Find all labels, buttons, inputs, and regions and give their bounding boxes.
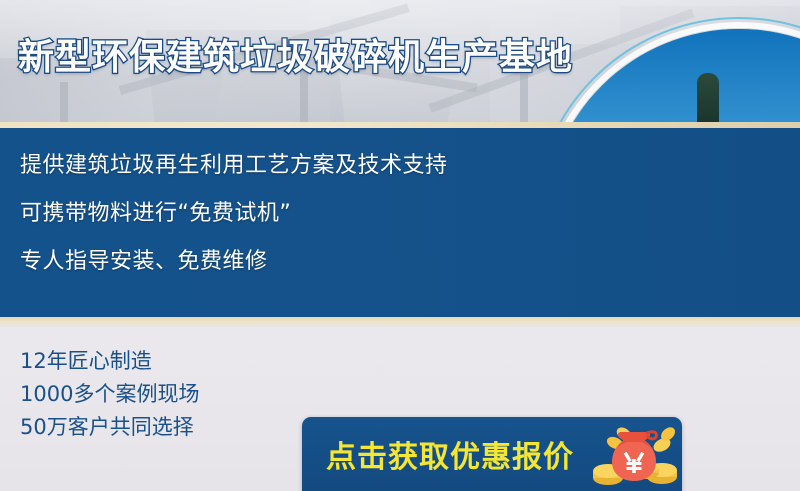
- money-bag-icon: [588, 421, 680, 487]
- get-quote-button[interactable]: 点击获取优惠报价: [302, 417, 682, 491]
- promo-banner: 郑州中意矿山机械有限公司 新型环保建筑垃圾破碎机生产基地 提供建筑垃圾再生利用工…: [0, 0, 800, 491]
- feature-line-3: 专人指导安装、免费维修: [20, 238, 540, 286]
- stat-line-3: 50万客户共同选择: [20, 411, 320, 444]
- page-title: 新型环保建筑垃圾破碎机生产基地: [18, 38, 558, 78]
- get-quote-label: 点击获取优惠报价: [326, 432, 574, 476]
- feature-line-1: 提供建筑垃圾再生利用工艺方案及技术支持: [20, 142, 540, 190]
- feature-list: 提供建筑垃圾再生利用工艺方案及技术支持 可携带物料进行“免费试机” 专人指导安装…: [20, 142, 540, 286]
- stat-line-2: 1000多个案例现场: [20, 378, 320, 411]
- stats-list: 12年匠心制造 1000多个案例现场 50万客户共同选择: [20, 345, 320, 444]
- stat-line-1: 12年匠心制造: [20, 345, 320, 378]
- divider-gold-bottom: [0, 317, 800, 327]
- feature-line-2: 可携带物料进行“免费试机”: [20, 190, 540, 238]
